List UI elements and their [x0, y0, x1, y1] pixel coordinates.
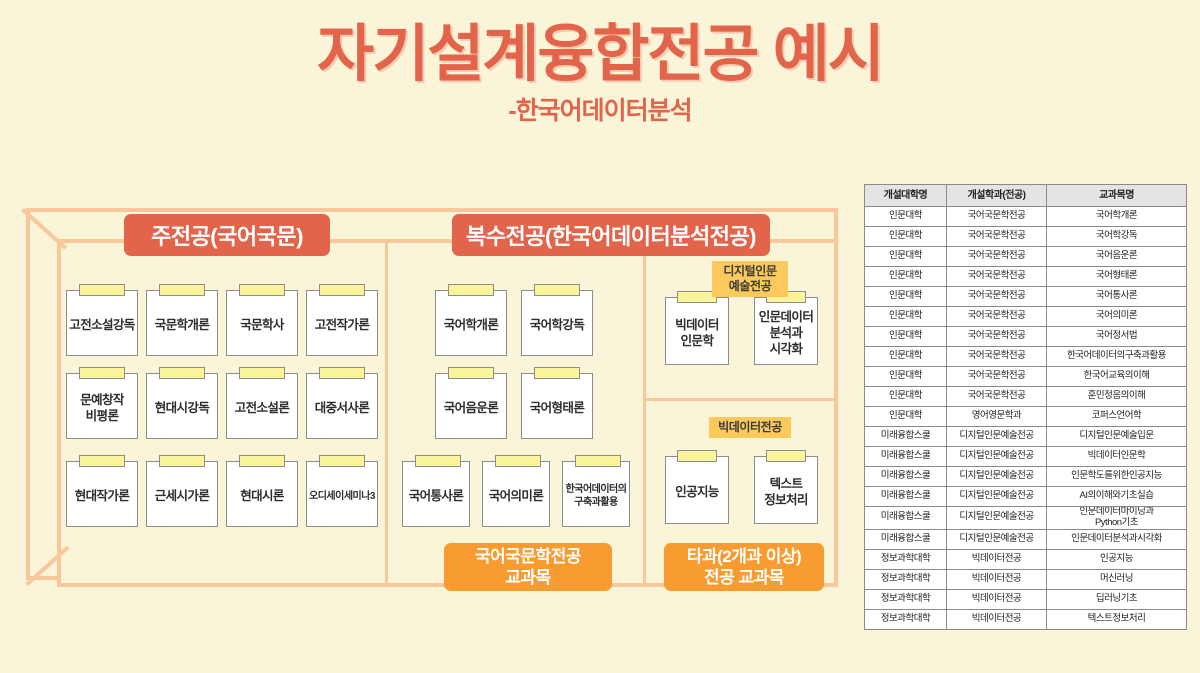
table-cell-course: 텍스트정보처리	[1047, 609, 1187, 629]
table-cell-college: 인문대학	[865, 327, 947, 347]
table-row: 인문대학국어국문학전공국어통사론	[865, 287, 1187, 307]
divider-subgroups	[643, 398, 835, 401]
table-row: 미래융합스쿨디지털인문예술전공인문학도를위한인공지능	[865, 467, 1187, 487]
table-cell-college: 미래융합스쿨	[865, 507, 947, 530]
course-card[interactable]: 국어형태론	[521, 373, 593, 439]
group-label-bigdata: 빅데이터전공	[709, 417, 791, 438]
course-card[interactable]: 국문학사	[226, 290, 298, 356]
title-block: 자기설계융합전공 예시 -한국어데이터분석	[0, 22, 1200, 127]
table-cell-college: 인문대학	[865, 307, 947, 327]
course-card[interactable]: 국어의미론	[482, 461, 550, 527]
table-cell-course: AI의이해와기초실습	[1047, 487, 1187, 507]
course-card[interactable]: 빅데이터인문학	[665, 297, 729, 365]
table-cell-department: 국어국문학전공	[947, 367, 1047, 387]
table-cell-department: 빅데이터전공	[947, 549, 1047, 569]
table-cell-course: 빅데이터인문학	[1047, 447, 1187, 467]
table-cell-college: 인문대학	[865, 227, 947, 247]
table-cell-department: 국어국문학전공	[947, 387, 1047, 407]
table-row: 인문대학국어국문학전공국어형태론	[865, 267, 1187, 287]
table-cell-course: 국어정서법	[1047, 327, 1187, 347]
course-card[interactable]: 국어학개론	[435, 290, 507, 356]
table-row: 인문대학국어국문학전공국어정서법	[865, 327, 1187, 347]
table-row: 인문대학국어국문학전공국어학개론	[865, 207, 1187, 227]
table-cell-course: 국어의미론	[1047, 307, 1187, 327]
card-tab	[319, 367, 365, 379]
table-header-college: 개설대학명	[865, 185, 947, 207]
table-cell-department: 디지털인문예술전공	[947, 467, 1047, 487]
table-row: 인문대학국어국문학전공국어의미론	[865, 307, 1187, 327]
table-cell-department: 국어국문학전공	[947, 307, 1047, 327]
table-cell-department: 디지털인문예술전공	[947, 487, 1047, 507]
table-cell-course: 국어형태론	[1047, 267, 1187, 287]
card-tab	[239, 455, 285, 467]
table-cell-course: 인문데이터마이닝과Python기초	[1047, 507, 1187, 530]
card-tab	[448, 284, 494, 296]
table-row: 인문대학국어국문학전공한국어교육의이해	[865, 367, 1187, 387]
course-card[interactable]: 근세시가론	[146, 461, 218, 527]
table-cell-department: 국어국문학전공	[947, 327, 1047, 347]
table-cell-department: 국어국문학전공	[947, 347, 1047, 367]
course-card[interactable]: 고전소설강독	[66, 290, 138, 356]
course-card[interactable]: 텍스트정보처리	[754, 456, 818, 524]
table-cell-college: 인문대학	[865, 207, 947, 227]
table-cell-department: 국어국문학전공	[947, 227, 1047, 247]
card-tab	[534, 284, 580, 296]
table-row: 정보과학대학빅데이터전공딥러닝기초	[865, 589, 1187, 609]
table-cell-course: 인문데이터분석과시각화	[1047, 529, 1187, 549]
card-tab	[319, 284, 365, 296]
table-cell-department: 디지털인문예술전공	[947, 447, 1047, 467]
table-cell-course: 딥러닝기초	[1047, 589, 1187, 609]
section-badge-major: 주전공(국어국문)	[124, 214, 330, 256]
course-card[interactable]: 문예창작비평론	[66, 373, 138, 439]
card-tab	[415, 455, 461, 467]
table-cell-college: 인문대학	[865, 347, 947, 367]
table-cell-course: 국어학개론	[1047, 207, 1187, 227]
table-cell-course: 한국어데이터의구축과활용	[1047, 347, 1187, 367]
course-card[interactable]: 인문데이터분석과시각화	[754, 297, 818, 365]
table-row: 정보과학대학빅데이터전공머신러닝	[865, 569, 1187, 589]
card-tab	[448, 367, 494, 379]
table-header-department: 개설학과(전공)	[947, 185, 1047, 207]
card-tab	[79, 367, 125, 379]
table-cell-department: 영어영문학과	[947, 407, 1047, 427]
course-card[interactable]: 오디세이세미나3	[306, 461, 378, 527]
table-cell-department: 국어국문학전공	[947, 267, 1047, 287]
course-card[interactable]: 국어학강독	[521, 290, 593, 356]
divider-major-double	[385, 239, 388, 587]
section-badge-double-major: 복수전공(한국어데이터분석전공)	[452, 214, 770, 256]
course-card[interactable]: 현대시론	[226, 461, 298, 527]
table-row: 인문대학영어영문학과코퍼스언어학	[865, 407, 1187, 427]
course-table: 개설대학명 개설학과(전공) 교과목명 인문대학국어국문학전공국어학개론인문대학…	[864, 184, 1187, 630]
course-card[interactable]: 국어통사론	[402, 461, 470, 527]
table-cell-course: 인공지능	[1047, 549, 1187, 569]
page-title: 자기설계융합전공 예시	[0, 22, 1200, 87]
card-tab	[159, 284, 205, 296]
card-tab	[677, 450, 717, 462]
course-card[interactable]: 고전소설론	[226, 373, 298, 439]
card-tab	[534, 367, 580, 379]
table-cell-course: 코퍼스언어학	[1047, 407, 1187, 427]
table-cell-course: 인문학도를위한인공지능	[1047, 467, 1187, 487]
card-tab	[79, 284, 125, 296]
card-tab	[766, 450, 806, 462]
table-cell-course: 국어학강독	[1047, 227, 1187, 247]
group-label-digital-humanities: 디지털인문예술전공	[712, 261, 788, 297]
table-cell-college: 미래융합스쿨	[865, 427, 947, 447]
course-card[interactable]: 인공지능	[665, 456, 729, 524]
table-cell-department: 빅데이터전공	[947, 569, 1047, 589]
table-cell-college: 정보과학대학	[865, 569, 947, 589]
table-cell-college: 정보과학대학	[865, 589, 947, 609]
footer-label-other-departments: 타과(2개과 이상)전공 교과목	[664, 543, 824, 591]
table-cell-college: 정보과학대학	[865, 549, 947, 569]
table-cell-course: 머신러닝	[1047, 569, 1187, 589]
table-cell-college: 미래융합스쿨	[865, 467, 947, 487]
table-cell-department: 디지털인문예술전공	[947, 507, 1047, 530]
table-header-row: 개설대학명 개설학과(전공) 교과목명	[865, 185, 1187, 207]
table-row: 미래융합스쿨디지털인문예술전공디지털인문예술입문	[865, 427, 1187, 447]
course-card[interactable]: 국어음운론	[435, 373, 507, 439]
table-cell-college: 인문대학	[865, 407, 947, 427]
table-cell-department: 국어국문학전공	[947, 247, 1047, 267]
course-card[interactable]: 현대작가론	[66, 461, 138, 527]
table-cell-department: 국어국문학전공	[947, 287, 1047, 307]
table-row: 미래융합스쿨디지털인문예술전공인문데이터마이닝과Python기초	[865, 507, 1187, 530]
course-card[interactable]: 대중서사론	[306, 373, 378, 439]
table-header-course: 교과목명	[1047, 185, 1187, 207]
divider-korean-other	[643, 239, 646, 587]
table-cell-course: 국어음운론	[1047, 247, 1187, 267]
footer-label-korean-major: 국어국문학전공교과목	[444, 543, 612, 591]
page-subtitle: -한국어데이터분석	[0, 91, 1200, 127]
table-cell-course: 훈민정음의이해	[1047, 387, 1187, 407]
table-row: 인문대학국어국문학전공국어학강독	[865, 227, 1187, 247]
table-row: 정보과학대학빅데이터전공텍스트정보처리	[865, 609, 1187, 629]
course-card[interactable]: 고전작가론	[306, 290, 378, 356]
course-card[interactable]: 현대시강독	[146, 373, 218, 439]
table-cell-department: 디지털인문예술전공	[947, 427, 1047, 447]
card-tab	[239, 367, 285, 379]
table-cell-course: 국어통사론	[1047, 287, 1187, 307]
card-tab	[159, 367, 205, 379]
table-cell-college: 미래융합스쿨	[865, 529, 947, 549]
table-cell-course: 디지털인문예술입문	[1047, 427, 1187, 447]
table-cell-college: 미래융합스쿨	[865, 487, 947, 507]
table-row: 미래융합스쿨디지털인문예술전공빅데이터인문학	[865, 447, 1187, 467]
table-cell-department: 빅데이터전공	[947, 609, 1047, 629]
card-tab	[677, 291, 717, 303]
course-card[interactable]: 한국어데이터의구축과활용	[562, 461, 630, 527]
card-tab	[239, 284, 285, 296]
course-card[interactable]: 국문학개론	[146, 290, 218, 356]
table-row: 인문대학국어국문학전공훈민정음의이해	[865, 387, 1187, 407]
table-cell-college: 인문대학	[865, 247, 947, 267]
table-cell-college: 인문대학	[865, 387, 947, 407]
table-body: 인문대학국어국문학전공국어학개론인문대학국어국문학전공국어학강독인문대학국어국문…	[865, 207, 1187, 630]
table-cell-college: 정보과학대학	[865, 609, 947, 629]
table-row: 미래융합스쿨디지털인문예술전공AI의이해와기초실습	[865, 487, 1187, 507]
iso-left-face	[26, 208, 60, 580]
table-cell-college: 인문대학	[865, 367, 947, 387]
table-cell-college: 인문대학	[865, 287, 947, 307]
table-cell-college: 미래융합스쿨	[865, 447, 947, 467]
table-row: 정보과학대학빅데이터전공인공지능	[865, 549, 1187, 569]
table-cell-department: 빅데이터전공	[947, 589, 1047, 609]
card-tab	[495, 455, 541, 467]
table-cell-department: 디지털인문예술전공	[947, 529, 1047, 549]
card-tab	[575, 455, 621, 467]
table-row: 미래융합스쿨디지털인문예술전공인문데이터분석과시각화	[865, 529, 1187, 549]
table-cell-course: 한국어교육의이해	[1047, 367, 1187, 387]
table-row: 인문대학국어국문학전공국어음운론	[865, 247, 1187, 267]
card-tab	[319, 455, 365, 467]
table-cell-college: 인문대학	[865, 267, 947, 287]
card-tab	[159, 455, 205, 467]
table-cell-department: 국어국문학전공	[947, 207, 1047, 227]
table-row: 인문대학국어국문학전공한국어데이터의구축과활용	[865, 347, 1187, 367]
card-tab	[79, 455, 125, 467]
